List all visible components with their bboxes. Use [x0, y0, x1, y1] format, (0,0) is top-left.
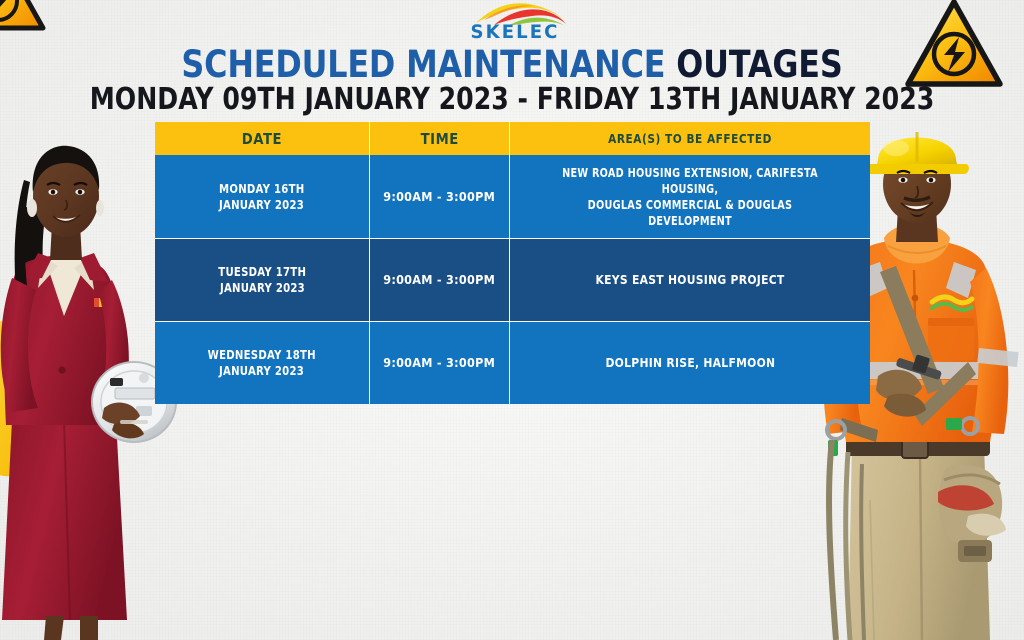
cell-time: 9:00AM - 3:00PM — [370, 155, 510, 238]
skelec-logo: SKELEC — [462, 1, 568, 47]
outage-schedule-table: DATE TIME AREA(S) TO BE AFFECTED MONDAY … — [155, 122, 870, 404]
cell-areas-line2: DOUGLAS COMMERCIAL & DOUGLAS DEVELOPMENT — [549, 197, 831, 229]
cell-areas-line1: NEW ROAD HOUSING EXTENSION, CARIFESTA HO… — [549, 165, 831, 197]
cell-date-text: MONDAY 16THJANUARY 2023 — [215, 181, 310, 213]
cell-date-line1: TUESDAY 17TH — [218, 264, 306, 280]
page-subtitle: MONDAY 09TH JANUARY 2023 - FRIDAY 13TH J… — [82, 84, 942, 116]
logo-wordmark: SKELEC — [468, 21, 563, 43]
cell-areas-text: DOLPHIN RISE, HALFMOON — [605, 355, 775, 371]
column-header-time: TIME — [370, 122, 510, 155]
cell-time-text: 9:00AM - 3:00PM — [384, 189, 496, 205]
column-header-date-label: DATE — [242, 130, 282, 148]
poster-canvas: SKELEC SCHEDULED MAINTENANCE OUTAGES MON… — [0, 0, 1024, 640]
column-header-areas-label: AREA(S) TO BE AFFECTED — [608, 132, 772, 146]
table-row: TUESDAY 17THJANUARY 2023 9:00AM - 3:00PM… — [155, 238, 870, 321]
cell-areas-text: KEYS EAST HOUSING PROJECT — [595, 272, 784, 288]
column-header-time-label: TIME — [420, 130, 458, 148]
cell-date-line1: WEDNESDAY 18TH — [208, 347, 316, 363]
page-title-secondary: OUTAGES — [676, 43, 842, 86]
cell-date-text: WEDNESDAY 18THJANUARY 2023 — [202, 347, 322, 379]
cell-date: WEDNESDAY 18THJANUARY 2023 — [155, 322, 370, 404]
cell-time: 9:00AM - 3:00PM — [370, 322, 510, 404]
cell-date-line2: JANUARY 2023 — [219, 363, 304, 379]
cell-date-line1: MONDAY 16TH — [219, 181, 304, 197]
table-row: WEDNESDAY 18THJANUARY 2023 9:00AM - 3:00… — [155, 321, 870, 404]
cell-date: TUESDAY 17THJANUARY 2023 — [155, 239, 370, 321]
cell-areas: DOLPHIN RISE, HALFMOON — [510, 322, 870, 404]
column-header-date: DATE — [155, 122, 370, 155]
cell-time-text: 9:00AM - 3:00PM — [384, 355, 496, 371]
cell-date: MONDAY 16THJANUARY 2023 — [155, 155, 370, 238]
cell-time-text: 9:00AM - 3:00PM — [384, 272, 496, 288]
cell-areas: NEW ROAD HOUSING EXTENSION, CARIFESTA HO… — [510, 155, 870, 238]
column-header-areas: AREA(S) TO BE AFFECTED — [510, 122, 870, 155]
cell-areas: KEYS EAST HOUSING PROJECT — [510, 239, 870, 321]
table-row: MONDAY 16THJANUARY 2023 9:00AM - 3:00PM … — [155, 155, 870, 238]
page-title: SCHEDULED MAINTENANCE OUTAGES — [72, 46, 953, 84]
warning-triangle-top-left-icon — [0, 0, 48, 36]
warning-triangle-top-right-icon — [902, 0, 1006, 92]
table-header-row: DATE TIME AREA(S) TO BE AFFECTED — [155, 122, 870, 155]
cell-areas-text: NEW ROAD HOUSING EXTENSION, CARIFESTA HO… — [533, 165, 846, 229]
cell-date-line2: JANUARY 2023 — [219, 280, 304, 296]
cell-date-line2: JANUARY 2023 — [219, 197, 304, 213]
cell-date-text: TUESDAY 17THJANUARY 2023 — [213, 264, 311, 296]
cell-time: 9:00AM - 3:00PM — [370, 239, 510, 321]
page-title-primary: SCHEDULED MAINTENANCE — [181, 43, 676, 86]
